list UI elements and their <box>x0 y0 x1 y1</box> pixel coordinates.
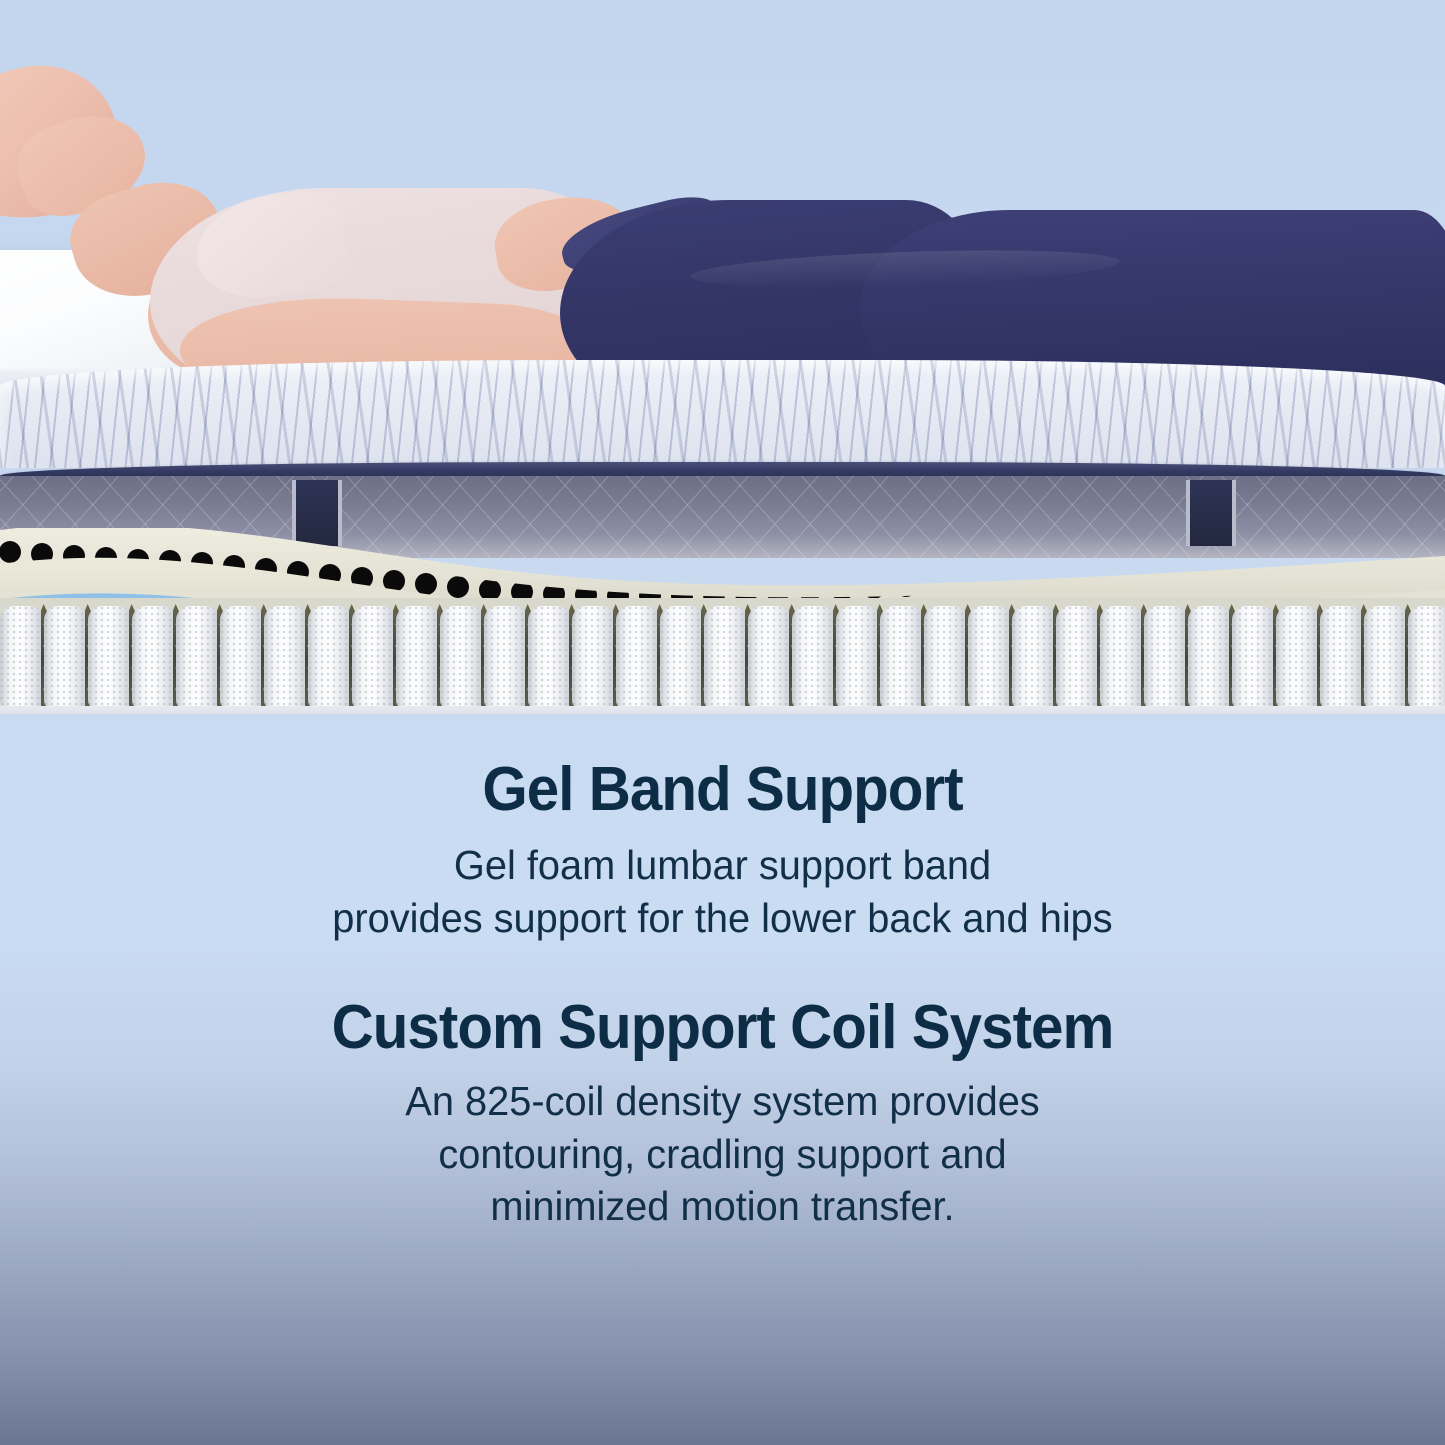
coil <box>396 606 440 710</box>
coil <box>924 606 968 710</box>
feature-description-line: An 825-coil density system provides <box>405 1078 1039 1124</box>
feature-heading-coil-system: Custom Support Coil System <box>43 996 1401 1059</box>
coil <box>1056 606 1100 710</box>
feature-description-line: contouring, cradling support and <box>438 1131 1006 1177</box>
coil <box>1364 606 1408 710</box>
coil <box>1320 606 1364 710</box>
coil <box>484 606 528 710</box>
coil <box>968 606 1012 710</box>
coil <box>440 606 484 710</box>
coil <box>528 606 572 710</box>
feature-text-panel: Gel Band Support Gel foam lumbar support… <box>0 714 1445 1445</box>
feature-description-line: provides support for the lower back and … <box>332 895 1112 941</box>
coil <box>1144 606 1188 710</box>
coil <box>1408 606 1445 710</box>
coil <box>88 606 132 710</box>
coil <box>1100 606 1144 710</box>
feature-block-coil-system: Custom Support Coil System An 825-coil d… <box>0 996 1445 1233</box>
coil <box>220 606 264 710</box>
coil <box>132 606 176 710</box>
feature-graphic: Gel Band Support Gel foam lumbar support… <box>0 0 1445 1445</box>
coil <box>0 606 44 710</box>
feature-description-line: Gel foam lumbar support band <box>454 842 991 888</box>
mattress-photo <box>0 0 1445 714</box>
coil <box>660 606 704 710</box>
coil <box>792 606 836 710</box>
coil <box>572 606 616 710</box>
coil <box>748 606 792 710</box>
coil <box>1012 606 1056 710</box>
feature-description-gel-band: Gel foam lumbar support band provides su… <box>22 839 1424 944</box>
quilted-pillow-top-layer <box>0 360 1445 468</box>
feature-block-gel-band: Gel Band Support Gel foam lumbar support… <box>0 714 1445 944</box>
coil-base-strip <box>0 706 1445 714</box>
feature-heading-gel-band: Gel Band Support <box>43 758 1401 821</box>
coil <box>616 606 660 710</box>
coil <box>880 606 924 710</box>
coil <box>1276 606 1320 710</box>
feature-description-line: minimized motion transfer. <box>490 1183 954 1229</box>
feature-description-coil-system: An 825-coil density system provides cont… <box>22 1075 1424 1232</box>
coil <box>352 606 396 710</box>
coil <box>1188 606 1232 710</box>
pocketed-coil-system <box>0 598 1445 710</box>
coil <box>704 606 748 710</box>
coil <box>308 606 352 710</box>
coil <box>176 606 220 710</box>
coil <box>264 606 308 710</box>
coil <box>1232 606 1276 710</box>
coil <box>836 606 880 710</box>
coil <box>44 606 88 710</box>
